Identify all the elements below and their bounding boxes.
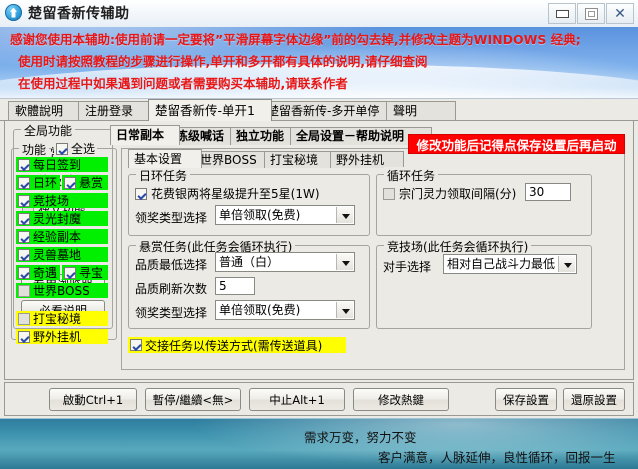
bounty-quality-label: 品质最低选择: [135, 256, 207, 273]
settings-tab-field-afk[interactable]: 野外挂机: [330, 151, 404, 168]
func-daily-signin-box: [18, 159, 30, 171]
save-settings-button[interactable]: 保存設置: [495, 388, 557, 411]
func-treasure-realm[interactable]: 打宝秘境: [16, 311, 108, 326]
notice-banner: 感谢您使用本辅助:使用前请一定要将”平滑屏幕字体边缘”前的勾去掉,并修改主题为W…: [0, 27, 638, 99]
func-world-boss-label: 世界BOSS: [33, 282, 90, 299]
arena-opponent-value: 相对自己战斗力最低: [447, 257, 555, 271]
app-logo-icon: [5, 4, 22, 21]
func-arena-label: 竞技场: [33, 192, 69, 209]
tab-panel-single-open-1: 全局功能 日常副本 练级喊话 独立功能 专用浏览器 必看说明 功能 全选: [4, 121, 634, 380]
checkbox-select-all-box: [56, 143, 68, 155]
chevron-down-icon: [336, 254, 353, 270]
func-field-afk-box: [18, 331, 30, 343]
func-beast-tomb-box: [18, 249, 30, 261]
tab-multi-open[interactable]: 楚留香新传-多开单停: [260, 101, 398, 121]
func-daily-signin[interactable]: 每日签到: [16, 157, 108, 172]
footer-banner: 需求万变，努力不变 客户满意，人脉延伸，良性循环，回报一生: [0, 418, 638, 469]
settings-panel: 基本设置 世界BOSS 打宝秘境 野外挂机 日环任务 花费银两将星级提升至5星(…: [121, 148, 625, 370]
warning-banner: 修改功能后记得点保存设置后再启动: [408, 134, 625, 154]
checkbox-sect-power-box: [383, 188, 395, 200]
tab-single-open-1[interactable]: 楚留香新传-单开1: [148, 99, 272, 121]
sect-power-interval-input[interactable]: 30: [525, 183, 571, 201]
action-button-bar: 啟動Ctrl+1 暫停/繼續<無> 中止Alt+1 修改熱鍵 保存設置 還原設置: [4, 382, 634, 416]
checkbox-select-all-label: 全选: [71, 140, 95, 157]
checkbox-sect-power[interactable]: 宗门灵力领取间隔(分): [383, 185, 516, 202]
func-world-boss-box: [18, 285, 30, 297]
settings-tab-treasure[interactable]: 打宝秘境: [264, 151, 338, 168]
bounty-quality-select[interactable]: 普通（白）: [215, 252, 355, 272]
settings-tab-world-boss[interactable]: 世界BOSS: [194, 151, 272, 168]
function-tab-daily-dungeon[interactable]: 日常副本: [110, 125, 180, 145]
banner-line-3: 在使用过程中如果遇到问题或者需要购买本辅助,请联系作者: [18, 73, 638, 95]
bounty-quality-value: 普通（白）: [219, 255, 279, 269]
close-icon: ✕: [614, 8, 626, 20]
close-button[interactable]: ✕: [606, 3, 634, 24]
banner-line-2: 使用时请按照教程的步骤进行操作,单开和多开都有具体的说明,请仔细查阅: [18, 51, 638, 73]
checkbox-upgrade-star[interactable]: 花费银两将星级提升至5星(1W): [135, 185, 320, 202]
global-function-title: 全局功能: [21, 122, 75, 139]
cycle-task-title: 循环任务: [384, 167, 438, 184]
title-bar: 楚留香新传辅助 ✕: [0, 0, 638, 28]
bounty-reward-label: 领奖类型选择: [135, 304, 207, 321]
checkbox-upgrade-star-box: [135, 188, 147, 200]
checkbox-transfer-task-box: [130, 339, 142, 351]
minimize-button[interactable]: [548, 3, 576, 24]
pause-resume-button[interactable]: 暫停/繼續<無>: [145, 388, 241, 411]
func-field-afk-label: 野外挂机: [33, 328, 81, 345]
func-treasure-hunt-label: 寻宝: [79, 264, 103, 281]
checkbox-transfer-task-label: 交接任务以传送方式(需传送道具): [145, 337, 322, 354]
func-arena[interactable]: 竞技场: [16, 193, 108, 208]
footer-line-1: 需求万变，努力不变: [304, 427, 417, 446]
banner-line-1: 感谢您使用本辅助:使用前请一定要将”平滑屏幕字体边缘”前的勾去掉,并修改主题为W…: [10, 27, 638, 51]
checkbox-select-all[interactable]: 全选: [54, 140, 97, 157]
func-treasure-realm-label: 打宝秘境: [33, 310, 81, 327]
settings-tab-basic[interactable]: 基本设置: [128, 149, 202, 168]
tab-statement[interactable]: 聲明: [386, 101, 456, 121]
func-world-boss[interactable]: 世界BOSS: [16, 283, 108, 298]
func-beast-tomb[interactable]: 灵兽墓地: [16, 247, 108, 262]
func-daily-ring-box: [18, 177, 30, 189]
daily-ring-reward-label: 领奖类型选择: [135, 209, 207, 226]
func-exp-dungeon-label: 经验副本: [33, 228, 81, 245]
func-treasure-hunt[interactable]: 寻宝: [62, 265, 108, 280]
function-list-group: 功能 全选 每日签到 日环 悬赏 竞技场: [11, 148, 117, 340]
maximize-button[interactable]: [577, 3, 605, 24]
checkbox-transfer-task[interactable]: 交接任务以传送方式(需传送道具): [128, 337, 346, 353]
func-treasure-hunt-box: [64, 267, 76, 279]
func-beast-tomb-label: 灵兽墓地: [33, 246, 81, 263]
func-adventure-box: [18, 267, 30, 279]
func-treasure-realm-box: [18, 313, 30, 325]
func-adventure[interactable]: 奇遇: [16, 265, 60, 280]
func-lingguang-seal[interactable]: 灵光封魔: [16, 211, 108, 226]
checkbox-upgrade-star-label: 花费银两将星级提升至5星(1W): [151, 185, 320, 202]
checkbox-sect-power-label: 宗门灵力领取间隔(分): [399, 185, 516, 202]
func-bounty[interactable]: 悬赏: [62, 175, 108, 190]
window-title: 楚留香新传辅助: [28, 3, 130, 23]
arena-opponent-select[interactable]: 相对自己战斗力最低: [443, 254, 577, 274]
func-bounty-label: 悬赏: [79, 174, 103, 191]
func-exp-dungeon-box: [18, 231, 30, 243]
func-arena-box: [18, 195, 30, 207]
func-field-afk[interactable]: 野外挂机: [16, 329, 108, 344]
func-lingguang-seal-label: 灵光封魔: [33, 210, 81, 227]
application-window: 楚留香新传辅助 ✕ 感谢您使用本辅助:使用前请一定要将”平滑屏幕字体边缘”前的勾…: [0, 0, 638, 468]
daily-ring-title: 日环任务: [136, 167, 190, 184]
chevron-down-icon: [558, 256, 575, 272]
main-tab-bar: 軟體說明 注册登录 楚留香新传-单开1 楚留香新传-多开单停 聲明: [0, 99, 638, 121]
arena-opponent-label: 对手选择: [383, 258, 431, 275]
bounty-task-group: 悬赏任务(此任务会循环执行) 品质最低选择 普通（白） 品质刷新次数 5 领奖类…: [128, 245, 370, 329]
arena-task-title: 竞技场(此任务会循环执行): [384, 238, 531, 255]
chevron-down-icon: [336, 302, 353, 318]
arena-task-group: 竞技场(此任务会循环执行) 对手选择 相对自己战斗力最低: [376, 245, 592, 329]
func-daily-signin-label: 每日签到: [33, 156, 81, 173]
chevron-down-icon: [336, 207, 353, 223]
func-bounty-box: [64, 177, 76, 189]
edit-hotkey-button[interactable]: 修改熱鍵: [353, 388, 449, 411]
window-controls: ✕: [548, 3, 634, 24]
maximize-icon: [585, 8, 598, 20]
start-button[interactable]: 啟動Ctrl+1: [49, 388, 137, 411]
stop-button[interactable]: 中止Alt+1: [249, 388, 345, 411]
func-lingguang-seal-box: [18, 213, 30, 225]
cycle-task-group: 循环任务 宗门灵力领取间隔(分) 30: [376, 174, 592, 236]
bounty-refresh-input[interactable]: 5: [215, 277, 255, 295]
restore-settings-button[interactable]: 還原設置: [563, 388, 625, 411]
bounty-reward-value: 单倍领取(免费): [219, 303, 300, 317]
footer-line-2: 客户满意，人脉延伸，良性循环，回报一生: [378, 447, 616, 466]
bounty-refresh-label: 品质刷新次数: [135, 280, 207, 297]
func-daily-ring[interactable]: 日环: [16, 175, 60, 190]
func-exp-dungeon[interactable]: 经验副本: [16, 229, 108, 244]
minimize-icon: [556, 10, 569, 18]
daily-ring-reward-select[interactable]: 单倍领取(免费): [215, 205, 355, 225]
func-daily-ring-label: 日环: [33, 174, 57, 191]
func-adventure-label: 奇遇: [33, 264, 57, 281]
bounty-reward-select[interactable]: 单倍领取(免费): [215, 300, 355, 320]
daily-ring-reward-value: 单倍领取(免费): [219, 208, 300, 222]
daily-ring-group: 日环任务 花费银两将星级提升至5星(1W) 领奖类型选择 单倍领取(免费): [128, 174, 370, 236]
